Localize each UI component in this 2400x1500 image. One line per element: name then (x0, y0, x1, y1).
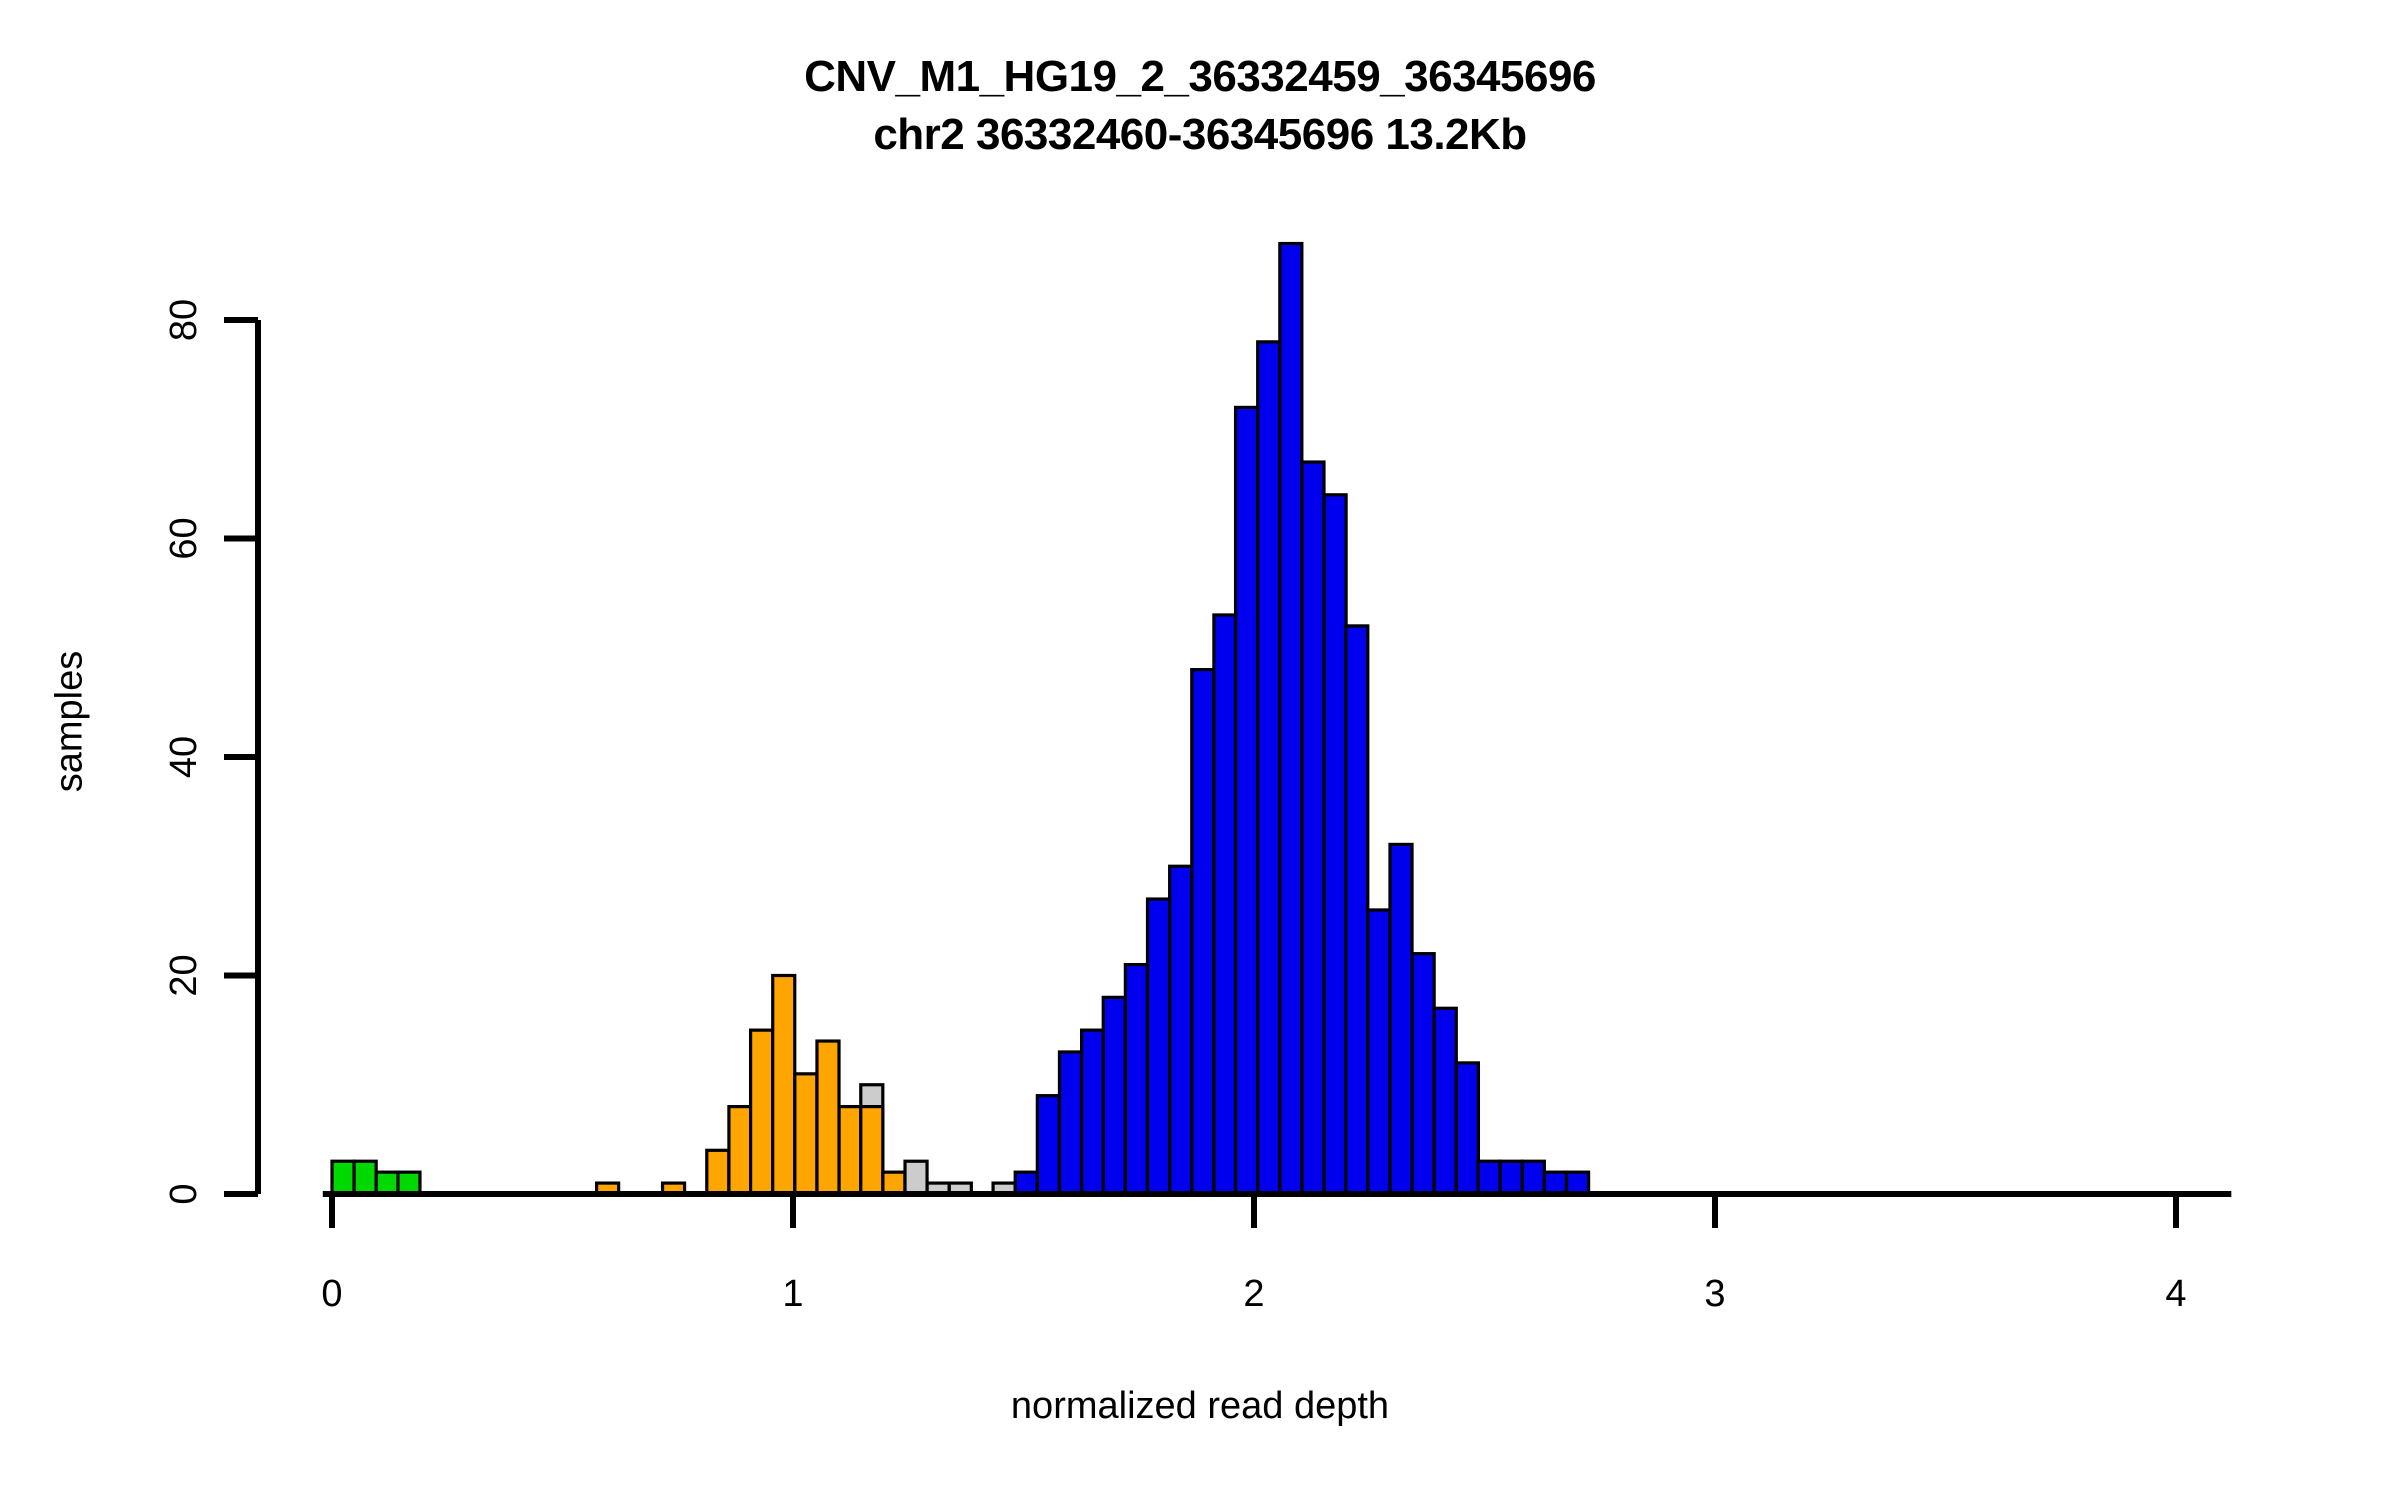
histogram-bar (1456, 1063, 1478, 1194)
x-tick-label: 3 (1704, 1273, 1725, 1315)
histogram-bar (817, 1041, 839, 1194)
histogram-bar (1258, 342, 1280, 1194)
histogram-bar (1324, 495, 1346, 1194)
histogram-bar (795, 1074, 817, 1194)
histogram-bar (1059, 1052, 1081, 1194)
histogram-bar (1170, 866, 1192, 1194)
histogram-bar (398, 1172, 420, 1194)
histogram-bar (1214, 615, 1236, 1194)
chart-canvas: 01234020406080 (0, 0, 2400, 1500)
histogram-bar (883, 1172, 905, 1194)
histogram-bar (861, 1107, 883, 1194)
x-axis-label: normalized read depth (0, 1385, 2400, 1428)
histogram-bar (707, 1150, 729, 1194)
x-tick-label: 0 (321, 1273, 342, 1315)
histogram-bar (729, 1107, 751, 1194)
histogram-bar (1478, 1161, 1500, 1194)
histogram-bar (1390, 844, 1412, 1194)
histogram-bar (1346, 626, 1368, 1194)
histogram-bar (773, 976, 795, 1195)
histogram-bar (332, 1161, 354, 1194)
histogram-bar (354, 1161, 376, 1194)
histogram-bar (751, 1030, 773, 1194)
y-tick-label: 40 (163, 736, 205, 778)
histogram-bar (1412, 954, 1434, 1194)
y-tick-label: 60 (163, 517, 205, 559)
histogram-bar (905, 1161, 927, 1194)
histogram-bar (1037, 1096, 1059, 1194)
histogram-bar (1434, 1008, 1456, 1194)
y-tick-label: 80 (163, 299, 205, 341)
bars-group (332, 244, 1589, 1194)
histogram-bar (1103, 997, 1125, 1194)
y-tick-label: 20 (163, 954, 205, 996)
histogram-bar (1125, 965, 1147, 1194)
plot-area: 01234020406080 (0, 0, 2400, 1500)
histogram-bar (376, 1172, 398, 1194)
histogram-bar (1082, 1030, 1104, 1194)
histogram-bar (1302, 462, 1324, 1194)
histogram-bar (1236, 407, 1258, 1194)
histogram-bar (1192, 670, 1214, 1194)
histogram-bar (839, 1107, 861, 1194)
histogram-bar (1280, 244, 1302, 1194)
histogram-bar (1015, 1172, 1037, 1194)
histogram-figure: CNV_M1_HG19_2_36332459_36345696 chr2 363… (0, 0, 2400, 1500)
histogram-bar (1500, 1161, 1522, 1194)
x-tick-label: 4 (2165, 1273, 2186, 1315)
histogram-bar (1544, 1172, 1566, 1194)
y-axis-label: samples (49, 522, 92, 922)
histogram-bar (1368, 910, 1390, 1194)
histogram-bar (1148, 899, 1170, 1194)
histogram-bar (1567, 1172, 1589, 1194)
histogram-bar (1522, 1161, 1544, 1194)
x-tick-label: 2 (1243, 1273, 1264, 1315)
x-tick-label: 1 (782, 1273, 803, 1315)
y-tick-label: 0 (163, 1183, 205, 1204)
